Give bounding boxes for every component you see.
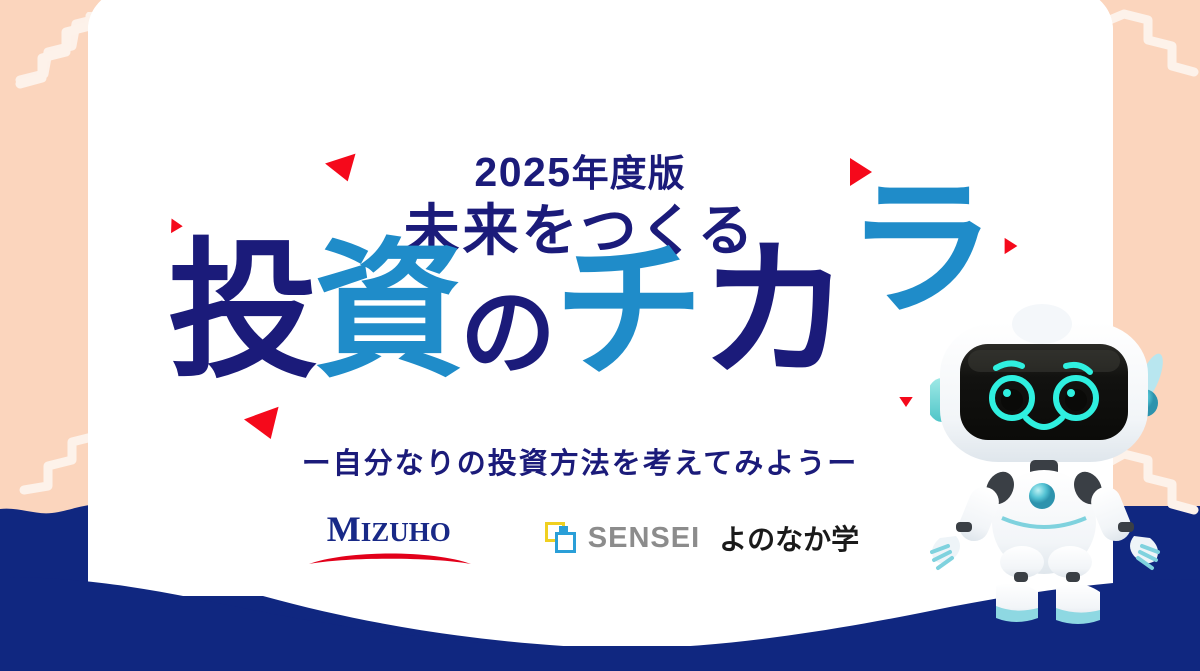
hero-banner: 2025年度版 未来をつくる 投資のチカラ ー自分なりの投資方法を考えてみようー… <box>0 0 1200 671</box>
mizuho-swoosh-icon <box>307 548 473 566</box>
mizuho-logo: MIZUHO <box>301 508 477 568</box>
sensei-logo: SENSEI よのなか学 <box>545 518 859 558</box>
sensei-japanese-label: よのなか学 <box>719 518 859 558</box>
robot-arm-right <box>1087 482 1158 568</box>
square-inner-fill <box>559 526 568 535</box>
robot-foot-left <box>996 583 1038 622</box>
mizuho-wordmark-m: M <box>327 509 361 549</box>
robot-foot-right <box>1056 584 1100 624</box>
mizuho-wordmark: MIZUHO <box>301 508 477 553</box>
mascot-robot <box>930 300 1200 640</box>
headline-char-chi: チ <box>554 236 700 386</box>
headline-char-shi: 資 <box>314 236 460 386</box>
overlapping-squares-icon <box>545 522 577 554</box>
square-blue <box>555 532 576 553</box>
sensei-wordmark: SENSEI <box>588 522 700 555</box>
robot-head-knob <box>1012 304 1072 344</box>
mizuho-wordmark-rest: IZUHO <box>361 517 451 547</box>
headline-char-tou: 投 <box>168 236 314 386</box>
headline-char-ka: カ <box>700 236 846 386</box>
headline-char-no: の <box>460 286 554 382</box>
robot-chest-light <box>1029 483 1055 509</box>
robot-screen-glare <box>968 350 1120 372</box>
